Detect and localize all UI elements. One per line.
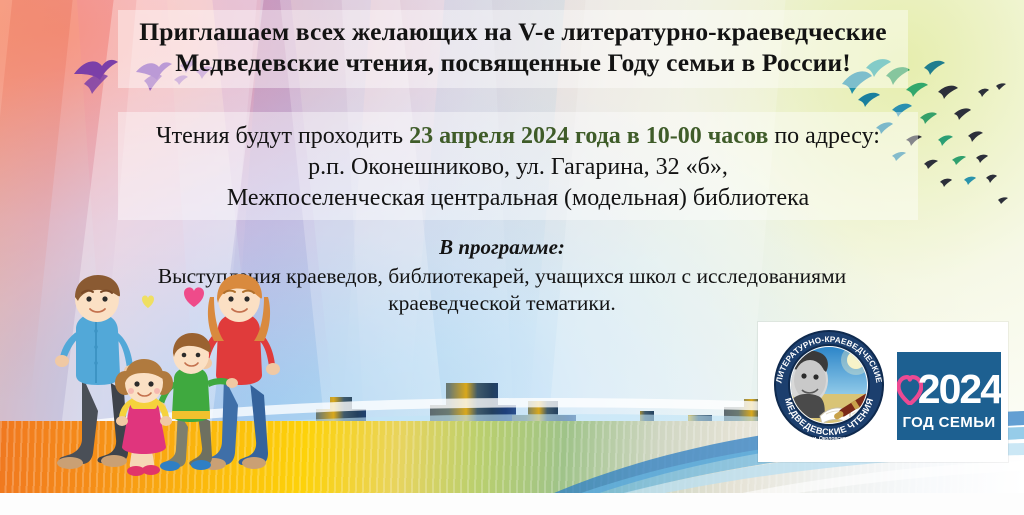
logo-card: ЛИТЕРАТУРНО-КРАЕВЕДЧЕСКИЕ МЕДВЕДЕВСКИЕ Ч… — [758, 322, 1008, 462]
event-datetime-line: Чтения будут проходить 23 апреля 2024 го… — [118, 121, 918, 152]
venue-address-line-1: р.п. Оконешниково, ул. Гагарина, 32 «б», — [118, 152, 918, 183]
poster-title: Приглашаем всех желающих на V-е литерату… — [118, 16, 908, 78]
footer-strip — [0, 493, 1024, 515]
badge-caption-text: ГОД СЕМЬИ — [902, 415, 995, 430]
year-of-family-badge: 2024 ГОД СЕМЬИ — [895, 350, 1003, 442]
emblem-subcaption: и. и. Околовского — [807, 436, 850, 442]
decor-heart-icon — [184, 287, 204, 307]
badge-year-text: 2024 — [918, 369, 1001, 410]
datetime-prefix: Чтения будут проходить — [156, 123, 409, 149]
title-line-1: Приглашаем всех желающих на V-е литерату… — [118, 16, 908, 47]
title-line-2: Медведевские чтения, посвященные Году се… — [118, 47, 908, 78]
program-heading: В программе: — [140, 234, 864, 261]
venue-address-line-2: Межпоселенческая центральная (модельная)… — [118, 183, 918, 214]
poster-canvas: Приглашаем всех желающих на V-е литерату… — [0, 0, 1024, 515]
cartoon-family-illustration — [38, 271, 284, 481]
medvedev-readings-emblem: ЛИТЕРАТУРНО-КРАЕВЕДЧЕСКИЕ МЕДВЕДЕВСКИЕ Ч… — [768, 328, 890, 446]
event-date-highlight: 23 апреля 2024 года в 10-00 часов — [409, 123, 768, 149]
decor-heart-yellow-icon — [142, 295, 154, 308]
badge-year-row: 2024 — [897, 363, 1001, 417]
datetime-suffix: по адресу: — [768, 123, 880, 149]
event-details: Чтения будут проходить 23 апреля 2024 го… — [118, 121, 918, 214]
